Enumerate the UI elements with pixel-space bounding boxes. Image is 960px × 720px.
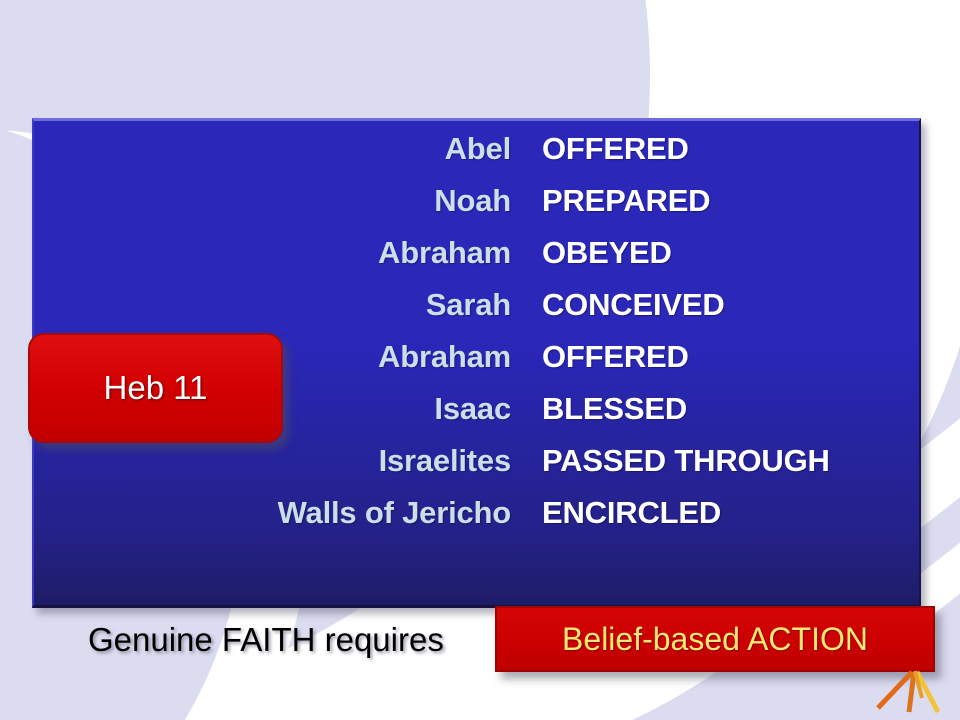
table-cell-name: Israelites (34, 443, 511, 479)
table-cell-name: Sarah (34, 287, 511, 323)
table-cell-action: PASSED THROUGH (511, 443, 830, 479)
table-cell-action: PREPARED (511, 183, 710, 219)
table-cell-action: BLESSED (511, 391, 687, 427)
footer-highlight-label: Belief-based ACTION (562, 621, 868, 658)
arrow-burst-icon (860, 668, 950, 720)
table-cell-action: ENCIRCLED (511, 495, 721, 531)
table-cell-action: CONCEIVED (511, 287, 725, 323)
table-row: Sarah CONCEIVED (34, 287, 919, 339)
table-row: Noah PREPARED (34, 183, 919, 235)
footer-statement: Genuine FAITH requires (88, 621, 444, 659)
table-cell-action: OBEYED (511, 235, 672, 271)
slide-canvas: Faith’s Hall of Fame By Faith… Abel OFFE… (0, 0, 960, 720)
table-cell-name: Walls of Jericho (34, 495, 511, 531)
table-row: Abraham OBEYED (34, 235, 919, 287)
table-row: Abel OFFERED (34, 131, 919, 183)
table-row: Israelites PASSED THROUGH (34, 443, 919, 495)
table-row: Walls of Jericho ENCIRCLED (34, 495, 919, 547)
table-cell-action: OFFERED (511, 339, 689, 375)
table-cell-name: Abel (34, 131, 511, 167)
footer-highlight-box: Belief-based ACTION (495, 606, 935, 672)
scripture-reference-badge: Heb 11 (28, 333, 283, 443)
table-cell-action: OFFERED (511, 131, 689, 167)
scripture-reference-label: Heb 11 (104, 369, 208, 407)
table-cell-name: Abraham (34, 235, 511, 271)
table-cell-name: Noah (34, 183, 511, 219)
